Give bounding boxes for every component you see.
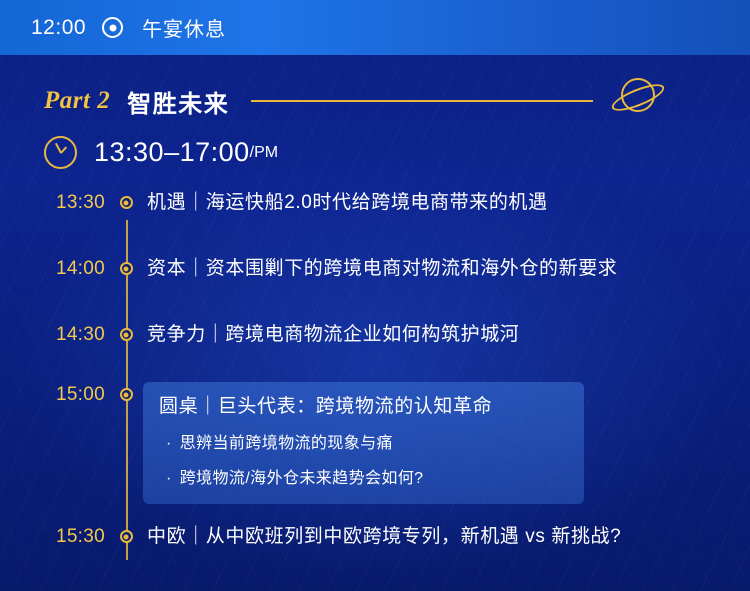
divider-line	[251, 100, 593, 102]
timeline-marker	[105, 322, 147, 341]
timeline-dot-icon	[120, 530, 133, 543]
spacer	[0, 230, 750, 256]
record-dot-icon	[102, 17, 123, 38]
agenda-time: 15:30	[0, 524, 105, 548]
agenda-title: 圆桌｜巨头代表：跨境物流的认知革命	[159, 394, 566, 420]
timeline-marker	[105, 256, 147, 275]
agenda-bullet: 思辨当前跨境物流的现象与痛	[159, 433, 566, 455]
timeline-dot-icon	[120, 262, 133, 275]
agenda-title: 机遇｜海运快船2.0时代给跨境电商带来的机遇	[147, 190, 548, 216]
timerange-text: 13:30–17:00	[94, 137, 250, 168]
timeline-marker	[105, 190, 147, 209]
spacer	[0, 362, 750, 382]
part-title: 智胜未来	[127, 84, 229, 119]
topbar-title: 午宴休息	[142, 13, 226, 42]
list-item[interactable]: 14:00 资本｜资本围剿下的跨境电商对物流和海外仓的新要求	[0, 256, 750, 296]
agenda-title: 中欧｜从中欧班列到中欧跨境专列，新机遇 vs 新挑战?	[147, 524, 621, 550]
timerange-suffix: /PM	[250, 144, 278, 162]
agenda-time: 14:30	[0, 322, 105, 346]
roundtable-card[interactable]: 圆桌｜巨头代表：跨境物流的认知革命 思辨当前跨境物流的现象与痛 跨境物流/海外仓…	[143, 382, 584, 504]
list-item[interactable]: 14:30 竞争力｜跨境电商物流企业如何构筑护城河	[0, 322, 750, 362]
list-item[interactable]: 13:30 机遇｜海运快船2.0时代给跨境电商带来的机遇	[0, 190, 750, 230]
session-timerange: 13:30–17:00 /PM	[44, 136, 278, 169]
topbar: 12:00 午宴休息	[0, 0, 750, 55]
agenda-time: 15:00	[0, 382, 105, 406]
agenda-time: 13:30	[0, 190, 105, 214]
spacer	[0, 504, 750, 524]
timeline-dot-icon	[120, 196, 133, 209]
clock-icon	[44, 136, 77, 169]
spacer	[0, 564, 750, 590]
part-label: Part 2	[44, 87, 110, 115]
list-item[interactable]: 15:30 中欧｜从中欧班列到中欧跨境专列，新机遇 vs 新挑战?	[0, 524, 750, 564]
timeline-dot-icon	[120, 328, 133, 341]
agenda-time: 14:00	[0, 256, 105, 280]
planet-icon	[609, 72, 667, 130]
agenda-bullet: 跨境物流/海外仓未来趋势会如何?	[159, 468, 566, 490]
timeline-dot-icon	[120, 388, 133, 401]
part-header: Part 2 智胜未来	[0, 78, 750, 124]
spacer	[0, 296, 750, 322]
timeline-marker	[105, 524, 147, 543]
slide-page: 12:00 午宴休息 Part 2 智胜未来 13:30–17:00 /PM 1…	[0, 0, 750, 591]
agenda-title: 竞争力｜跨境电商物流企业如何构筑护城河	[147, 322, 519, 348]
agenda-title: 资本｜资本围剿下的跨境电商对物流和海外仓的新要求	[147, 256, 617, 282]
topbar-time: 12:00	[31, 16, 86, 40]
timeline-marker	[105, 382, 147, 401]
list-item-highlighted[interactable]: 15:00 圆桌｜巨头代表：跨境物流的认知革命 思辨当前跨境物流的现象与痛 跨境…	[0, 382, 750, 504]
agenda-list: 13:30 机遇｜海运快船2.0时代给跨境电商带来的机遇 14:00 资本｜资本…	[0, 190, 750, 591]
